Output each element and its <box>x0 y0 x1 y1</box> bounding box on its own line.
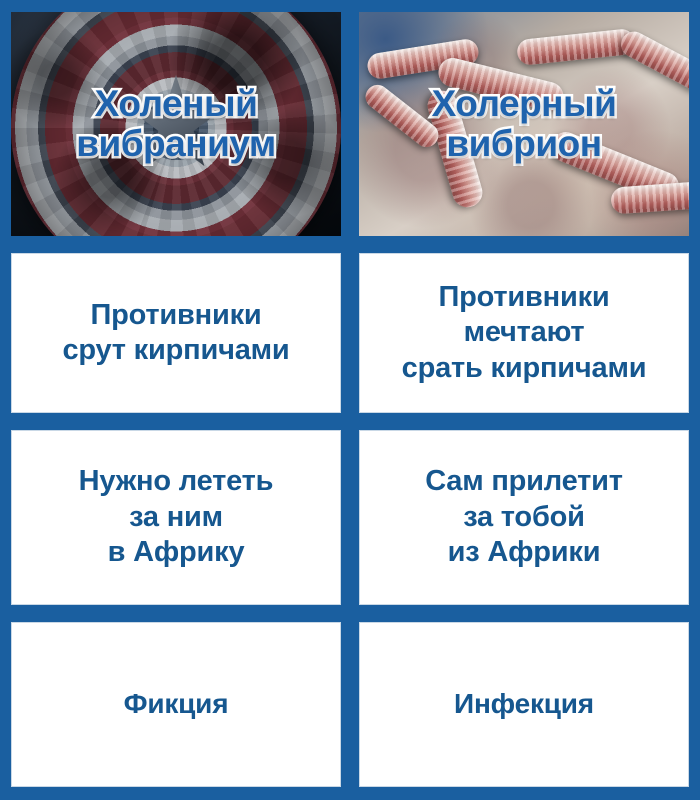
right-image-title: Холерный вибрион <box>428 84 621 164</box>
comparison-cell-left: Нужно лететь за ним в Африку <box>11 430 341 605</box>
bacteria-image-cell: Холерный вибрион <box>359 12 689 236</box>
comparison-row-2: Нужно лететь за ним в Африку Сам прилети… <box>11 430 689 605</box>
comparison-meme-grid: Холеный вибраниум Холерный вибрион Проти… <box>0 0 700 800</box>
caption-text: Инфекция <box>448 687 600 721</box>
image-row: Холеный вибраниум Холерный вибрион <box>11 12 689 236</box>
shield-image-cell: Холеный вибраниум <box>11 12 341 236</box>
comparison-cell-right: Сам прилетит за тобой из Африки <box>359 430 689 605</box>
left-image-title: Холеный вибраниум <box>72 84 280 164</box>
comparison-cell-right: Инфекция <box>359 622 689 787</box>
caption-text: Нужно лететь за ним в Африку <box>73 464 280 570</box>
comparison-row-3: Фикция Инфекция <box>11 622 689 787</box>
comparison-cell-right: Противники мечтают срать кирпичами <box>359 253 689 413</box>
caption-text: Сам прилетит за тобой из Африки <box>419 464 629 570</box>
comparison-row-1: Противники срут кирпичами Противники меч… <box>11 253 689 413</box>
caption-text: Фикция <box>118 687 235 721</box>
caption-text: Противники мечтают срать кирпичами <box>396 280 653 386</box>
caption-text: Противники срут кирпичами <box>56 298 295 369</box>
comparison-cell-left: Противники срут кирпичами <box>11 253 341 413</box>
comparison-cell-left: Фикция <box>11 622 341 787</box>
